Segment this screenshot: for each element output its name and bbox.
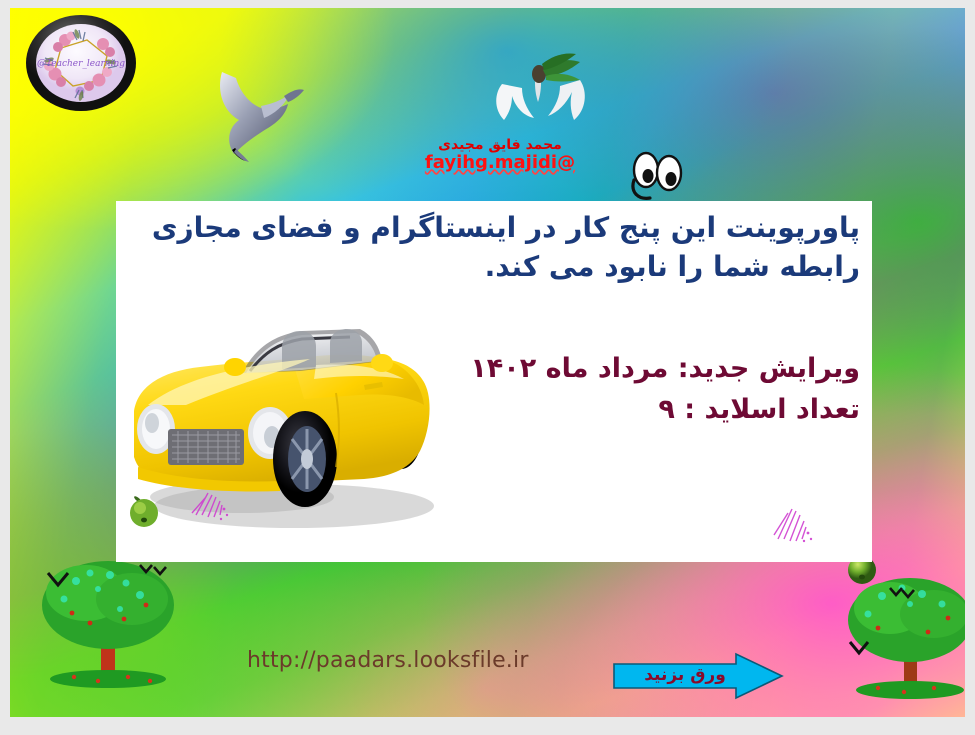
logo-handle-text: @Teacher_learning [37, 59, 125, 69]
next-slide-button[interactable]: ورق بزنید [612, 652, 784, 700]
sports-car-illustration [124, 301, 454, 551]
credit-author-name: محمد فایق مجیدی [410, 138, 590, 153]
next-slide-label: ورق بزنید [630, 665, 740, 685]
dove-olive-branch-icon [488, 50, 596, 132]
presentation-slide: @Teacher_learning محمد فایق مجیدی fayihg… [0, 0, 975, 735]
cartoon-eyes-icon [622, 148, 694, 204]
credit-handle: fayihg.majidi@ [410, 154, 590, 173]
site-url[interactable]: http://paadars.looksfile.ir [247, 648, 529, 673]
content-panel: پاورپوینت این پنج کار در اینستاگرام و فض… [116, 201, 872, 562]
tree-icon [838, 570, 965, 702]
tree-icon [28, 553, 203, 693]
sparkle-icon [768, 499, 814, 543]
credit-block: محمد فایق مجیدی fayihg.majidi@ [410, 138, 590, 173]
page-title: پاورپوینت این پنج کار در اینستاگرام و فض… [130, 209, 860, 286]
logo-badge: @Teacher_learning [25, 14, 137, 112]
dove-flying-icon [206, 58, 310, 163]
